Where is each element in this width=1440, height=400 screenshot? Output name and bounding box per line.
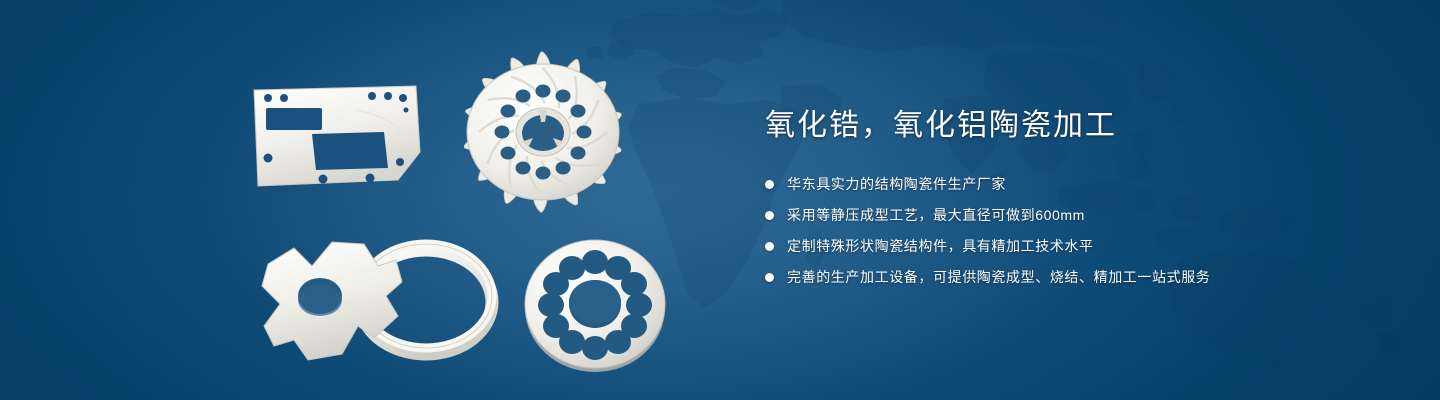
bullet-dot-icon bbox=[765, 273, 774, 282]
bullet-dot-icon bbox=[765, 242, 774, 251]
page-title: 氧化锆，氧化铝陶瓷加工 bbox=[765, 106, 1365, 146]
ceramic-plate-part bbox=[248, 82, 423, 197]
list-item: 采用等静压成型工艺，最大直径可做到600mm bbox=[765, 205, 1365, 226]
list-item-label: 华东具实力的结构陶瓷件生产厂家 bbox=[787, 176, 1006, 192]
feature-list: 华东具实力的结构陶瓷件生产厂家 采用等静压成型工艺，最大直径可做到600mm 定… bbox=[765, 174, 1365, 288]
product-photo-collage bbox=[230, 40, 700, 385]
ceramic-impeller-part bbox=[448, 48, 638, 216]
bullet-dot-icon bbox=[765, 180, 774, 189]
ceramic-hole-disc-part bbox=[515, 230, 675, 380]
list-item: 定制特殊形状陶瓷结构件，具有精加工技术水平 bbox=[765, 236, 1365, 257]
list-item: 华东具实力的结构陶瓷件生产厂家 bbox=[765, 174, 1365, 195]
list-item-label: 完善的生产加工设备，可提供陶瓷成型、烧结、精加工一站式服务 bbox=[787, 269, 1210, 285]
list-item: 完善的生产加工设备，可提供陶瓷成型、烧结、精加工一站式服务 bbox=[765, 267, 1365, 288]
ceramic-cross-ring-group bbox=[246, 230, 516, 380]
banner-copy: 氧化锆，氧化铝陶瓷加工 华东具实力的结构陶瓷件生产厂家 采用等静压成型工艺，最大… bbox=[765, 106, 1365, 288]
bullet-dot-icon bbox=[765, 211, 774, 220]
list-item-label: 采用等静压成型工艺，最大直径可做到600mm bbox=[787, 207, 1085, 223]
list-item-label: 定制特殊形状陶瓷结构件，具有精加工技术水平 bbox=[787, 238, 1094, 254]
hero-banner: 氧化锆，氧化铝陶瓷加工 华东具实力的结构陶瓷件生产厂家 采用等静压成型工艺，最大… bbox=[0, 0, 1440, 400]
